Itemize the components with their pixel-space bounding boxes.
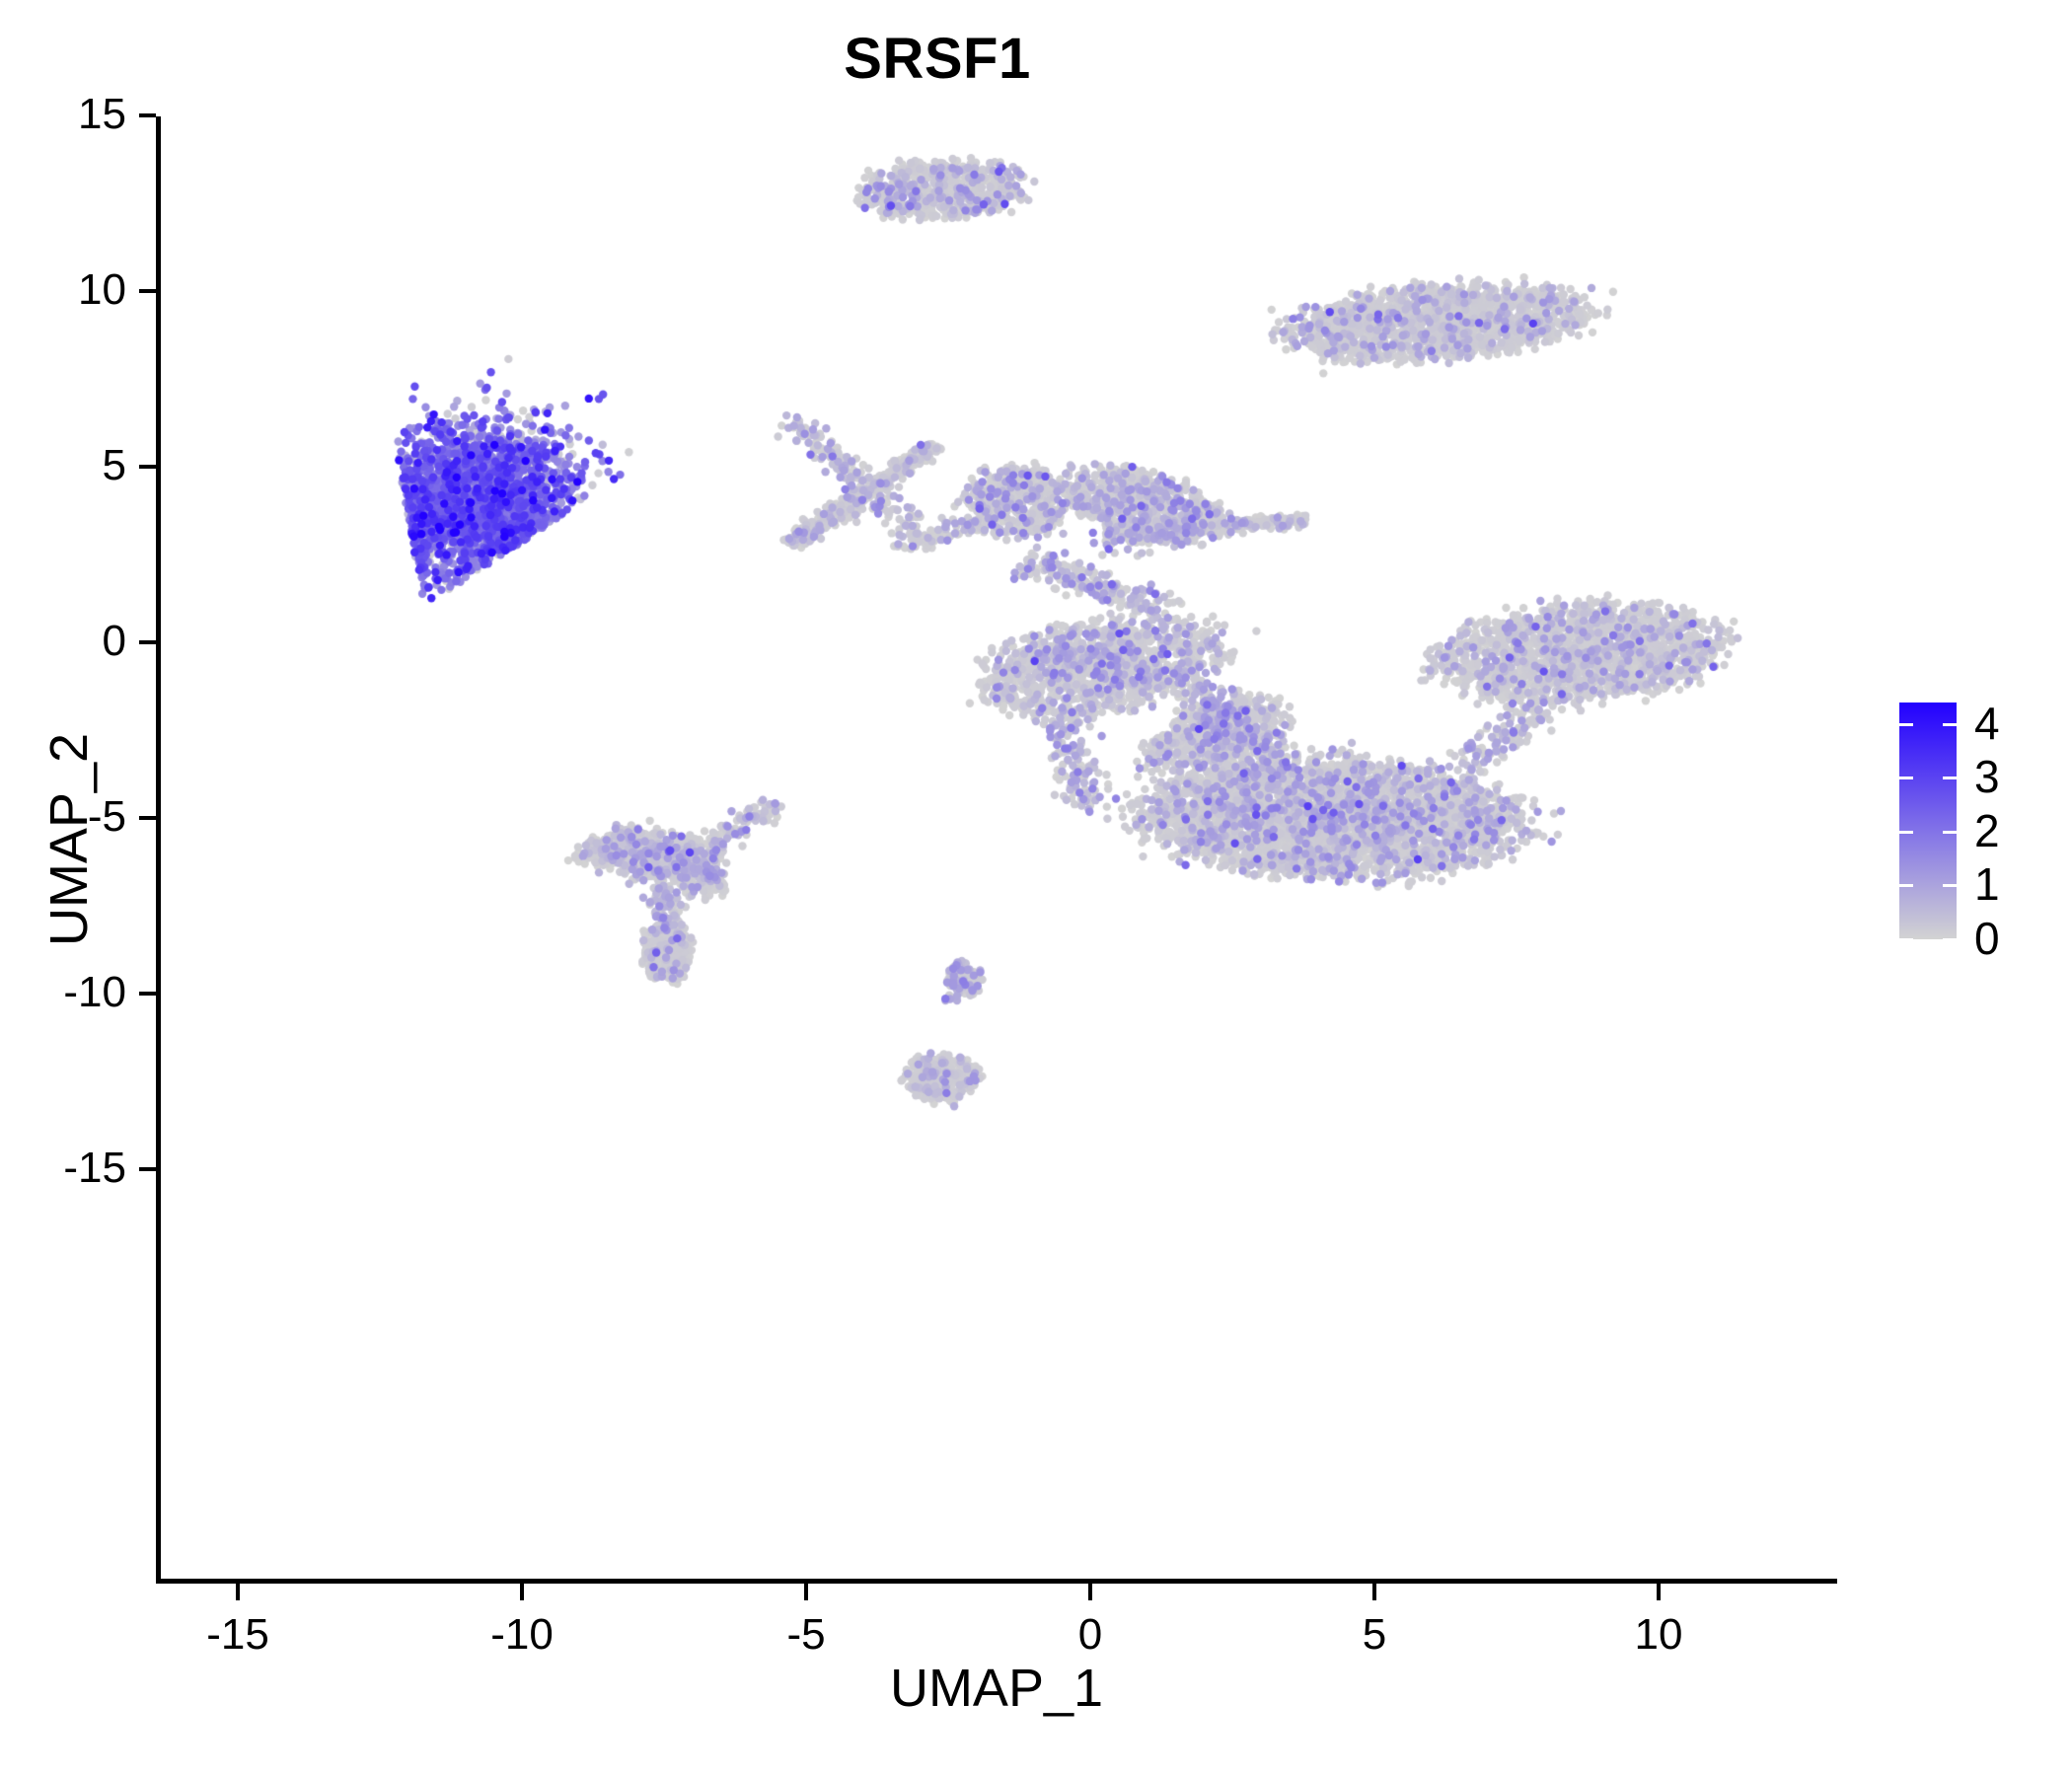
colorbar-tick-mark: [1943, 938, 1957, 941]
y-tick-mark: [139, 289, 156, 293]
colorbar-tick-mark: [1899, 884, 1913, 887]
colorbar-tick-mark: [1943, 723, 1957, 726]
x-tick-label: 5: [1305, 1610, 1443, 1660]
y-tick-mark: [139, 1167, 156, 1171]
y-tick-label: 10: [8, 265, 126, 315]
x-tick-mark: [1657, 1584, 1661, 1600]
colorbar-tick-mark: [1899, 723, 1913, 726]
x-axis-line: [156, 1579, 1837, 1584]
colorbar-tick-label: 4: [1974, 701, 2000, 746]
x-tick-mark: [236, 1584, 240, 1600]
colorbar-tick-mark: [1899, 938, 1913, 941]
y-tick-mark: [139, 113, 156, 117]
colorbar-tick-mark: [1943, 884, 1957, 887]
plot-panel: [158, 109, 1835, 1581]
colorbar-tick-mark: [1943, 777, 1957, 779]
x-tick-mark: [1372, 1584, 1376, 1600]
x-tick-label: -15: [169, 1610, 307, 1660]
x-tick-mark: [1088, 1584, 1092, 1600]
y-tick-mark: [139, 992, 156, 996]
colorbar-tick-mark: [1899, 831, 1913, 834]
y-axis-title: UMAP_2: [38, 445, 100, 1234]
colorbar-tick-label: 1: [1974, 861, 2000, 907]
y-tick-mark: [139, 640, 156, 644]
x-tick-label: 10: [1590, 1610, 1728, 1660]
x-tick-label: -5: [737, 1610, 875, 1660]
y-tick-mark: [139, 465, 156, 469]
colorbar-legend: 43210: [1899, 703, 2067, 969]
x-tick-label: -10: [453, 1610, 591, 1660]
x-axis-title: UMAP_1: [553, 1658, 1441, 1719]
colorbar-tick-label: 3: [1974, 754, 2000, 799]
colorbar-tick-mark: [1899, 777, 1913, 779]
x-tick-mark: [520, 1584, 524, 1600]
page-title: SRSF1: [0, 26, 1875, 92]
colorbar-tick-label: 0: [1974, 916, 2000, 961]
y-tick-label: 15: [8, 90, 126, 139]
colorbar-tick-label: 2: [1974, 808, 2000, 853]
y-axis-line: [156, 116, 161, 1583]
colorbar-gradient: [1899, 703, 1957, 939]
feature-plot-root: SRSF1 151050-5-10-15 -15-10-50510 UMAP_1…: [0, 0, 2072, 1776]
x-tick-mark: [804, 1584, 808, 1600]
scatter-plot-canvas: [158, 109, 1835, 1581]
colorbar-tick-mark: [1943, 831, 1957, 834]
y-tick-mark: [139, 816, 156, 820]
x-tick-label: 0: [1021, 1610, 1159, 1660]
